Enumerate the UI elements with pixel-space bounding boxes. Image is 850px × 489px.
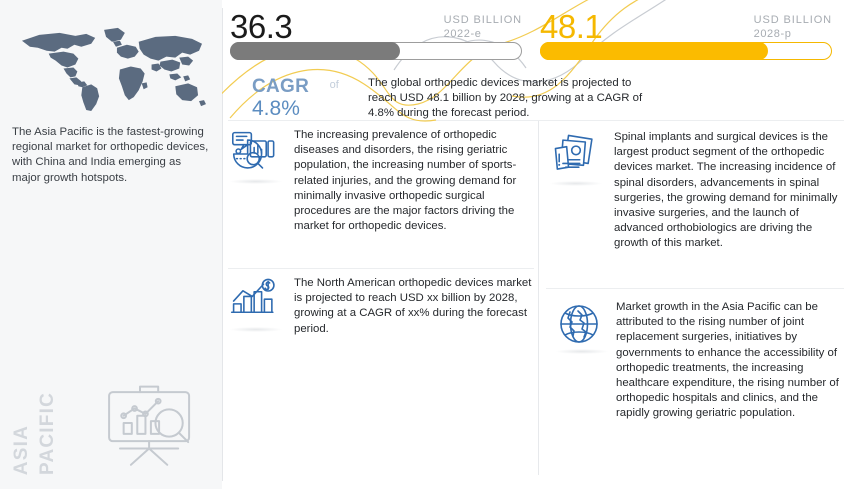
watermark-pacific: PACIFIC	[38, 392, 57, 475]
infographic-canvas: The Asia Pacific is the fastest-growing …	[0, 0, 850, 489]
stat-bar-track-2022	[230, 42, 522, 60]
growth-bar-chart-dollar-icon	[228, 276, 284, 328]
intro-summary-text: The global orthopedic devices market is …	[368, 76, 660, 122]
left-panel: The Asia Pacific is the fastest-growing …	[0, 0, 222, 489]
cagr-of-label: of	[330, 79, 339, 91]
divider-horizontal-right-column	[546, 288, 844, 289]
documents-stack-icon	[548, 130, 604, 182]
stat-unit-label-2028: USD BILLION	[754, 14, 832, 28]
cagr-label: CAGR	[252, 76, 309, 98]
divider-vertical-middle	[538, 120, 539, 475]
stat-year-2028: 2028-p	[754, 28, 832, 42]
divider-horizontal-left-column	[228, 268, 534, 269]
stat-bar-track-2028	[540, 42, 832, 60]
cagr-block: CAGR of 4.8%	[252, 76, 362, 121]
stat-year-2022: 2022-e	[444, 28, 522, 42]
info-card-north-america-text: The North American orthopedic devices ma…	[294, 276, 536, 337]
info-card-asia-pacific-growth-text: Market growth in the Asia Pacific can be…	[616, 300, 842, 422]
market-analysis-pie-bar-icon	[228, 128, 284, 180]
stat-value-2022: 36.3	[230, 8, 292, 46]
left-panel-caption: The Asia Pacific is the fastest-growing …	[12, 125, 212, 186]
globe-icon	[554, 300, 606, 350]
stat-unit-label-2022: USD BILLION	[444, 14, 522, 28]
presentation-chart-magnifier-icon	[100, 379, 200, 467]
stat-bar-fill-2022	[230, 42, 400, 60]
info-card-spinal-segment-text: Spinal implants and surgical devices is …	[614, 130, 842, 252]
info-card-drivers-text: The increasing prevalence of orthopedic …	[294, 128, 536, 234]
stat-unit-2028: USD BILLION 2028-p	[754, 14, 832, 41]
stat-unit-2022: USD BILLION 2022-e	[444, 14, 522, 41]
watermark-asia: ASIA	[12, 425, 31, 475]
asia-pacific-watermark: ASIA PACIFIC	[8, 355, 78, 475]
stat-value-2028: 48.1	[540, 8, 602, 46]
divider-vertical-left	[222, 8, 223, 481]
cagr-value: 4.8%	[252, 97, 362, 121]
world-map-icon	[12, 22, 210, 114]
stat-bar-fill-2028	[540, 42, 768, 60]
